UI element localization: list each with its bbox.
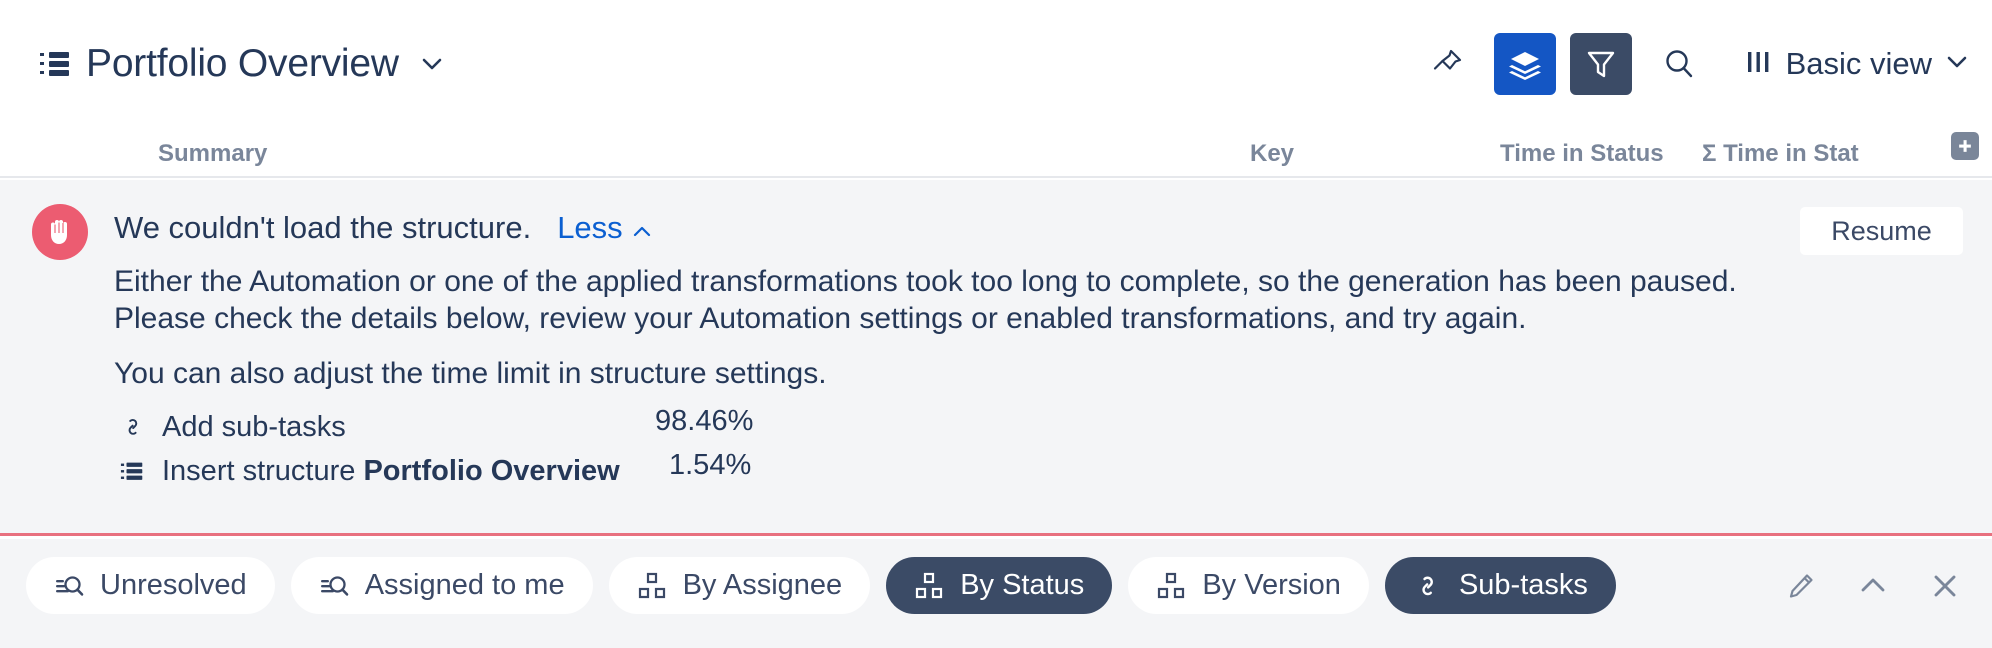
chip-label: By Assignee — [683, 569, 843, 602]
person-search-icon — [319, 571, 349, 601]
chevron-down-icon[interactable] — [421, 57, 443, 71]
chip-label: By Version — [1202, 569, 1341, 602]
chip-assigned-to-me[interactable]: Assigned to me — [291, 557, 593, 614]
structure-icon — [120, 458, 154, 484]
page-title: Portfolio Overview — [86, 42, 399, 86]
error-detail-list: Add sub-tasks 98.46% Insert structure Po… — [120, 405, 620, 493]
link-icon — [120, 414, 154, 440]
top-bar-actions: Basic view — [1400, 0, 1968, 128]
column-header-summary[interactable]: Summary — [158, 140, 267, 168]
list-item: Insert structure Portfolio Overview 1.54… — [120, 449, 620, 493]
column-header-key[interactable]: Key — [1250, 140, 1294, 168]
column-header-row: Summary Key Time in Status Σ Time in Sta… — [0, 128, 1992, 178]
search-icon[interactable] — [1648, 33, 1710, 95]
group-icon — [1156, 571, 1186, 601]
filter-icon[interactable] — [1570, 33, 1632, 95]
list-item: Add sub-tasks 98.46% — [120, 405, 620, 449]
person-search-icon — [54, 571, 84, 601]
chip-by-assignee[interactable]: By Assignee — [609, 557, 871, 614]
chip-sub-tasks[interactable]: Sub-tasks — [1385, 557, 1616, 614]
error-line-2: Please check the details below, review y… — [114, 300, 1737, 337]
detail-percent: 1.54% — [669, 449, 751, 482]
detail-label-bold: Portfolio Overview — [363, 455, 619, 487]
chip-unresolved[interactable]: Unresolved — [26, 557, 275, 614]
chip-label: Assigned to me — [365, 569, 565, 602]
chip-label: Unresolved — [100, 569, 247, 602]
chip-by-status[interactable]: By Status — [886, 557, 1112, 614]
chevron-up-icon[interactable] — [1856, 569, 1890, 603]
error-title: We couldn't load the structure. — [114, 210, 531, 246]
resume-button[interactable]: Resume — [1800, 207, 1963, 255]
link-icon — [1413, 571, 1443, 601]
column-header-time-in-status[interactable]: Time in Status — [1500, 140, 1664, 168]
detail-percent: 98.46% — [655, 405, 753, 438]
detail-label: Add sub-tasks — [162, 411, 346, 444]
top-bar: Portfolio Overview — [0, 0, 1992, 128]
chevron-down-icon — [1946, 55, 1968, 74]
close-icon[interactable] — [1928, 569, 1962, 603]
view-label: Basic view — [1786, 46, 1932, 82]
error-toggle-label: Less — [557, 210, 622, 246]
column-header-sum-time-in-status[interactable]: Σ Time in Stat — [1702, 140, 1859, 168]
add-column-icon[interactable] — [1951, 132, 1979, 160]
stop-hand-icon — [32, 204, 88, 260]
detail-label: Insert structure — [162, 455, 363, 487]
structure-app: Portfolio Overview — [0, 0, 1992, 648]
bottom-toolbar: Unresolved Assigned to me — [0, 539, 1992, 648]
chevron-up-icon — [632, 210, 652, 246]
chip-label: Sub-tasks — [1459, 569, 1588, 602]
chip-label: By Status — [960, 569, 1084, 602]
error-toggle-less[interactable]: Less — [557, 210, 651, 246]
error-hint: You can also adjust the time limit in st… — [114, 355, 827, 392]
pin-icon[interactable] — [1416, 33, 1478, 95]
chip-by-version[interactable]: By Version — [1128, 557, 1369, 614]
filter-chip-group: Unresolved Assigned to me — [26, 557, 1616, 614]
edit-icon[interactable] — [1784, 569, 1818, 603]
view-switcher[interactable]: Basic view — [1746, 46, 1968, 82]
bottom-toolbar-actions — [1784, 557, 1962, 614]
layers-icon[interactable] — [1494, 33, 1556, 95]
group-icon — [914, 571, 944, 601]
error-line-1: Either the Automation or one of the appl… — [114, 263, 1737, 300]
error-headline: We couldn't load the structure. Less — [114, 210, 652, 246]
structure-title-dropdown[interactable]: Portfolio Overview — [40, 42, 443, 86]
error-description: Either the Automation or one of the appl… — [114, 263, 1737, 337]
columns-icon — [1746, 48, 1772, 81]
structure-icon — [40, 51, 70, 77]
group-icon — [637, 571, 667, 601]
